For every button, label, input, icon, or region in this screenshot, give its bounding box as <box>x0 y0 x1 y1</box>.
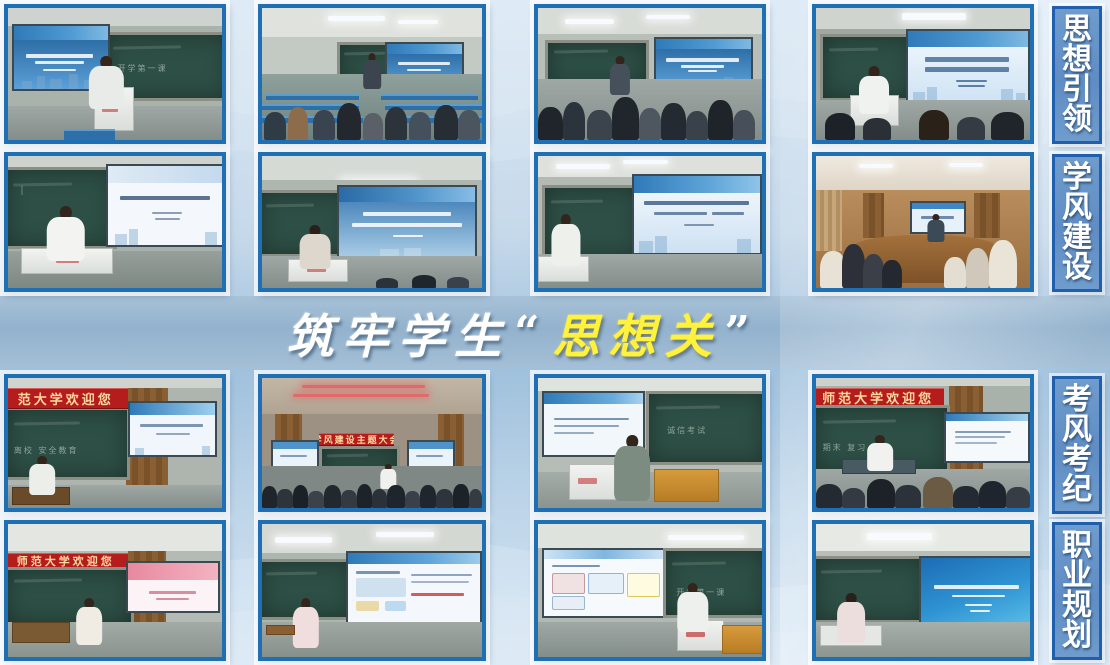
red-banner: 范大学欢迎您 <box>8 388 128 408</box>
headline-close-quote: ” <box>725 307 759 358</box>
photo-cell[interactable] <box>258 4 486 144</box>
photo-cell[interactable] <box>812 520 1034 661</box>
classroom-scene: 师范大学欢迎您 期末 复习 <box>816 378 1030 508</box>
photo-cell[interactable]: 师范大学欢迎您 期末 复习 <box>812 374 1034 512</box>
headline-highlight: 思想关 <box>553 298 721 367</box>
classroom-scene <box>262 524 482 657</box>
photo-cell[interactable] <box>812 4 1034 144</box>
classroom-scene: 开学第一课 <box>8 8 222 140</box>
tag-char: 划 <box>1062 621 1092 651</box>
photo-cell[interactable] <box>258 520 486 661</box>
photo-3[interactable] <box>534 4 766 144</box>
photo-14[interactable] <box>258 520 486 661</box>
photo-10[interactable]: 学风建设主题大会 <box>258 374 486 512</box>
tag-char: 考 <box>1062 385 1092 415</box>
photo-cell[interactable] <box>534 4 766 144</box>
classroom-scene <box>538 156 762 288</box>
headline-prefix: 筑牢学生 <box>286 298 510 367</box>
classroom-scene <box>816 8 1030 140</box>
meeting-room-scene <box>816 156 1030 288</box>
tag-char: 引 <box>1062 75 1092 105</box>
tag-study-style[interactable]: 学 风 建 设 <box>1052 154 1102 292</box>
photo-15[interactable]: 开学第一课 <box>534 520 766 661</box>
photo-11[interactable]: 诚信考试 <box>534 374 766 512</box>
classroom-scene: 离校 安全教育 范大学欢迎您 <box>8 378 222 508</box>
photo-6[interactable] <box>258 152 486 292</box>
photo-5[interactable]: │ <box>4 152 226 292</box>
classroom-scene <box>262 8 482 140</box>
tag-char: 考 <box>1062 445 1092 475</box>
tag-char: 领 <box>1062 105 1092 135</box>
tag-char: 设 <box>1062 253 1092 283</box>
photo-cell[interactable] <box>812 152 1034 292</box>
photo-cell[interactable]: 师范大学欢迎您 <box>4 520 226 661</box>
photo-16[interactable] <box>812 520 1034 661</box>
photo-cell[interactable]: 诚信考试 <box>534 374 766 512</box>
photo-cell[interactable]: 离校 安全教育 范大学欢迎您 <box>4 374 226 512</box>
poster-headline: 筑牢学生 “ 思想关 ” <box>0 296 1045 368</box>
classroom-scene: │ <box>8 156 222 288</box>
photo-cell[interactable]: 开学第一课 <box>534 520 766 661</box>
classroom-scene <box>816 524 1030 657</box>
tag-char: 风 <box>1062 415 1092 445</box>
tag-char: 业 <box>1062 561 1092 591</box>
tag-char: 建 <box>1062 223 1092 253</box>
tag-exam-discipline[interactable]: 考 风 考 纪 <box>1052 376 1102 514</box>
auditorium-scene: 学风建设主题大会 <box>262 378 482 508</box>
photo-7[interactable] <box>534 152 766 292</box>
classroom-scene: 开学第一课 <box>538 524 762 657</box>
photo-13[interactable]: 师范大学欢迎您 <box>4 520 226 661</box>
headline-open-quote: “ <box>514 307 548 358</box>
tag-char: 风 <box>1062 193 1092 223</box>
photo-8[interactable] <box>812 152 1034 292</box>
classroom-scene: 师范大学欢迎您 <box>8 524 222 657</box>
tag-char: 学 <box>1062 163 1092 193</box>
photo-cell[interactable] <box>534 152 766 292</box>
photo-2[interactable] <box>258 4 486 144</box>
tag-char: 职 <box>1062 531 1092 561</box>
classroom-scene <box>262 156 482 288</box>
tag-char: 规 <box>1062 591 1092 621</box>
red-banner: 学风建设主题大会 <box>319 433 394 447</box>
photo-cell[interactable]: │ <box>4 152 226 292</box>
photo-cell[interactable] <box>258 152 486 292</box>
tag-char: 纪 <box>1062 475 1092 505</box>
photo-1[interactable]: 开学第一课 <box>4 4 226 144</box>
photo-cell[interactable]: 学风建设主题大会 <box>258 374 486 512</box>
tag-char: 想 <box>1062 45 1092 75</box>
tag-ideological-guidance[interactable]: 思 想 引 领 <box>1052 6 1102 144</box>
tag-char: 思 <box>1062 15 1092 45</box>
classroom-scene <box>538 8 762 140</box>
tag-career-planning[interactable]: 职 业 规 划 <box>1052 522 1102 660</box>
poster-canvas: 开学第一课 <box>0 0 1110 665</box>
photo-12[interactable]: 师范大学欢迎您 期末 复习 <box>812 374 1034 512</box>
category-tag-column: 思 想 引 领 学 风 建 设 考 风 考 纪 职 业 规 划 <box>1045 0 1110 665</box>
photo-4[interactable] <box>812 4 1034 144</box>
classroom-scene: 诚信考试 <box>538 378 762 508</box>
photo-9[interactable]: 离校 安全教育 范大学欢迎您 <box>4 374 226 512</box>
photo-cell[interactable]: 开学第一课 <box>4 4 226 144</box>
